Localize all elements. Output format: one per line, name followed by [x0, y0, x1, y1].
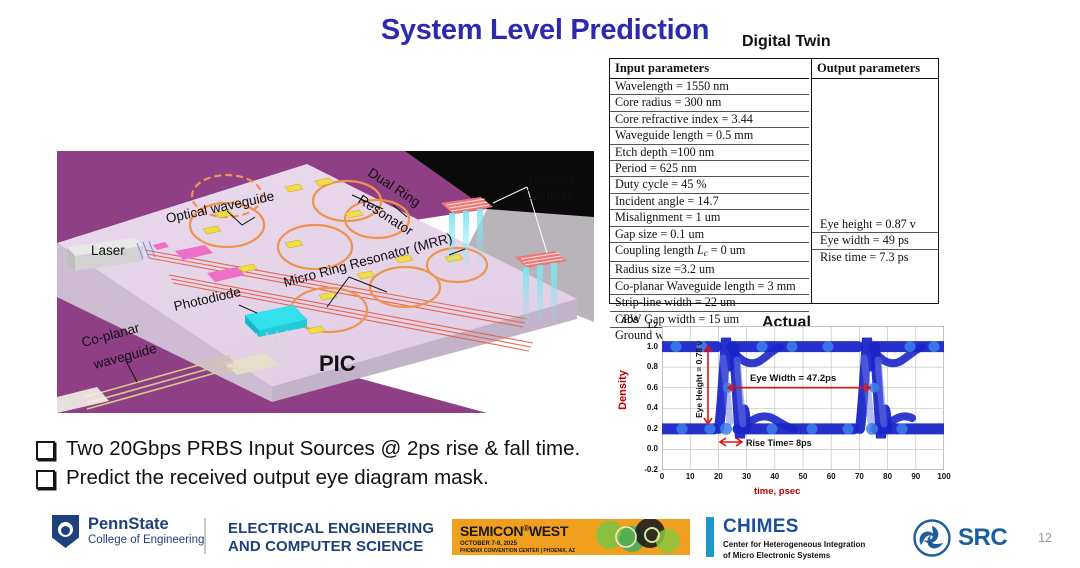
eecs-logo: ELECTRICAL ENGINEERING AND COMPUTER SCIE… — [228, 520, 434, 556]
input-parameter-row: Wavelength = 1550 nm — [610, 79, 809, 95]
output-parameter-row: Eye width = 49 ps — [812, 233, 938, 249]
y-tick-label: 1.0 — [638, 342, 658, 351]
input-parameter-row: Etch depth =100 nm — [610, 145, 809, 161]
pic-illustration: Optical waveguide Dual Ring Resonator Gr… — [57, 147, 594, 413]
src-swirl-icon — [913, 519, 951, 557]
label-grating-2: Coupler — [525, 187, 573, 202]
chimes-bar-icon — [706, 517, 714, 557]
page-title: System Level Prediction — [355, 14, 735, 47]
x-tick-label: 60 — [822, 472, 840, 481]
y-axis-label: Density — [617, 370, 629, 410]
input-parameter-row: Duty cycle = 45 % — [610, 177, 809, 193]
semicon-venue: PHOENIX CONVENTION CENTER | PHOENIX, AZ — [460, 548, 575, 554]
label-grating-1: Grating — [529, 171, 573, 186]
y-tick-label: 0.4 — [638, 403, 658, 412]
x-axis-ticks: 0102030405060708090100 — [653, 472, 953, 484]
eecs-line-1: ELECTRICAL ENGINEERING — [228, 520, 434, 538]
input-parameter-row: Co-planar Waveguide length = 3 mm — [610, 279, 809, 295]
digital-twin-label: Digital Twin — [742, 33, 831, 51]
chimes-logo: CHIMES Center for Heterogeneous Integrat… — [706, 517, 865, 561]
output-parameters-rows: Eye height = 0.87 vEye width = 49 psRise… — [812, 217, 938, 265]
semicon-text-block: SEMICON®WEST OCTOBER 7-9, 2025 PHOENIX C… — [460, 523, 575, 554]
input-parameters-column: Input parameters Wavelength = 1550 nmCor… — [610, 59, 809, 303]
x-tick-label: 30 — [738, 472, 756, 481]
ads-label: ADS — [621, 316, 639, 325]
x-tick-label: 80 — [879, 472, 897, 481]
x-tick-label: 50 — [794, 472, 812, 481]
x-tick-label: 20 — [709, 472, 727, 481]
page-number: 12 — [1038, 531, 1052, 545]
input-parameter-row: Misalignment = 1 um — [610, 210, 809, 226]
pennstate-college: College of Engineering — [88, 533, 204, 547]
footer-logo-bar: PennState College of Engineering ELECTRI… — [0, 506, 1080, 568]
bullet-item: Two 20Gbps PRBS Input Sources @ 2ps rise… — [36, 436, 636, 462]
semicon-west-word: WEST — [529, 523, 568, 539]
semicon-word: SEMICON — [460, 523, 523, 539]
input-parameter-row: Waveguide length = 0.5 mm — [610, 128, 809, 144]
x-tick-label: 100 — [935, 472, 953, 481]
input-parameter-row: Core refractive index = 3.44 — [610, 112, 809, 128]
pennstate-shield-icon — [52, 515, 79, 548]
x-tick-label: 40 — [766, 472, 784, 481]
input-parameter-row: Strip-line width = 22 um — [610, 295, 809, 311]
y-tick-label: 0.6 — [638, 383, 658, 392]
semicon-graphic — [580, 519, 690, 555]
input-parameter-row: Incident angle = 14.7 — [610, 194, 809, 210]
src-name: SRC — [958, 524, 1007, 552]
x-tick-label: 10 — [681, 472, 699, 481]
input-parameters-header: Input parameters — [610, 59, 809, 79]
eye-height-annotation: Eye Height = 0.78 v — [694, 340, 704, 418]
input-parameter-row: Coupling length Lc = 0 um — [610, 243, 809, 262]
bullet-text: Two 20Gbps PRBS Input Sources @ 2ps rise… — [66, 436, 580, 462]
rise-time-annotation: Rise Time= 8ps — [746, 438, 812, 448]
chimes-sub-2: of Micro Electronic Systems — [723, 550, 865, 561]
bullet-list: Two 20Gbps PRBS Input Sources @ 2ps rise… — [36, 436, 636, 494]
pennstate-name: PennState — [88, 516, 204, 533]
eye-diagram-panel: ADS Density Actual -0.20.00.20.40.60.81.… — [612, 312, 958, 502]
output-parameters-column: Output parameters Eye height = 0.87 vEye… — [811, 59, 938, 303]
chimes-name: CHIMES — [723, 517, 865, 537]
y-axis-ticks: -0.20.00.20.40.60.81.01.2 — [636, 326, 658, 470]
input-parameter-row: Period = 625 nm — [610, 161, 809, 177]
semicon-date: OCTOBER 7-9, 2025 — [460, 541, 575, 547]
bullet-text: Predict the received output eye diagram … — [66, 465, 489, 491]
footer-divider — [204, 518, 206, 554]
pennstate-logo: PennState College of Engineering — [52, 515, 204, 548]
input-parameters-rows: Wavelength = 1550 nmCore radius = 300 nm… — [610, 79, 809, 344]
label-pic: PIC — [319, 351, 356, 376]
y-tick-label: 0.0 — [638, 444, 658, 453]
slide-canvas: System Level Prediction Digital Twin Inp… — [0, 0, 1080, 568]
output-parameter-row: Eye height = 0.87 v — [812, 217, 938, 233]
chimes-sub-1: Center for Heterogeneous Integration — [723, 539, 865, 550]
eye-diagram-plot: Eye Height = 0.78 v Eye Width = 47.2ps R… — [662, 326, 944, 470]
checkbox-bullet-icon — [36, 441, 55, 460]
eecs-line-2: AND COMPUTER SCIENCE — [228, 538, 434, 556]
x-tick-label: 70 — [850, 472, 868, 481]
output-parameter-row: Rise time = 7.3 ps — [812, 250, 938, 265]
x-tick-label: 0 — [653, 472, 671, 481]
parameter-table: Input parameters Wavelength = 1550 nmCor… — [609, 58, 939, 304]
bullet-item: Predict the received output eye diagram … — [36, 465, 636, 491]
y-tick-label: 0.8 — [638, 362, 658, 371]
semicon-title: SEMICON®WEST — [460, 523, 575, 539]
semicon-west-banner: SEMICON®WEST OCTOBER 7-9, 2025 PHOENIX C… — [452, 519, 690, 555]
x-tick-label: 90 — [907, 472, 925, 481]
input-parameter-row: Radius size =3.2 um — [610, 262, 809, 278]
label-laser: Laser — [91, 243, 125, 258]
pic-svg: Optical waveguide Dual Ring Resonator Gr… — [57, 147, 594, 413]
checkbox-bullet-icon — [36, 470, 55, 489]
y-tick-label: 0.2 — [638, 424, 658, 433]
src-logo: SRC — [913, 519, 1007, 557]
output-parameters-header: Output parameters — [812, 59, 938, 79]
y-tick-label: 1.2 — [638, 321, 658, 330]
input-parameter-row: Gap size = 0.1 um — [610, 227, 809, 243]
x-axis-label: time, psec — [754, 486, 800, 497]
input-parameter-row: Core radius = 300 nm — [610, 95, 809, 111]
eye-width-annotation: Eye Width = 47.2ps — [750, 373, 836, 384]
